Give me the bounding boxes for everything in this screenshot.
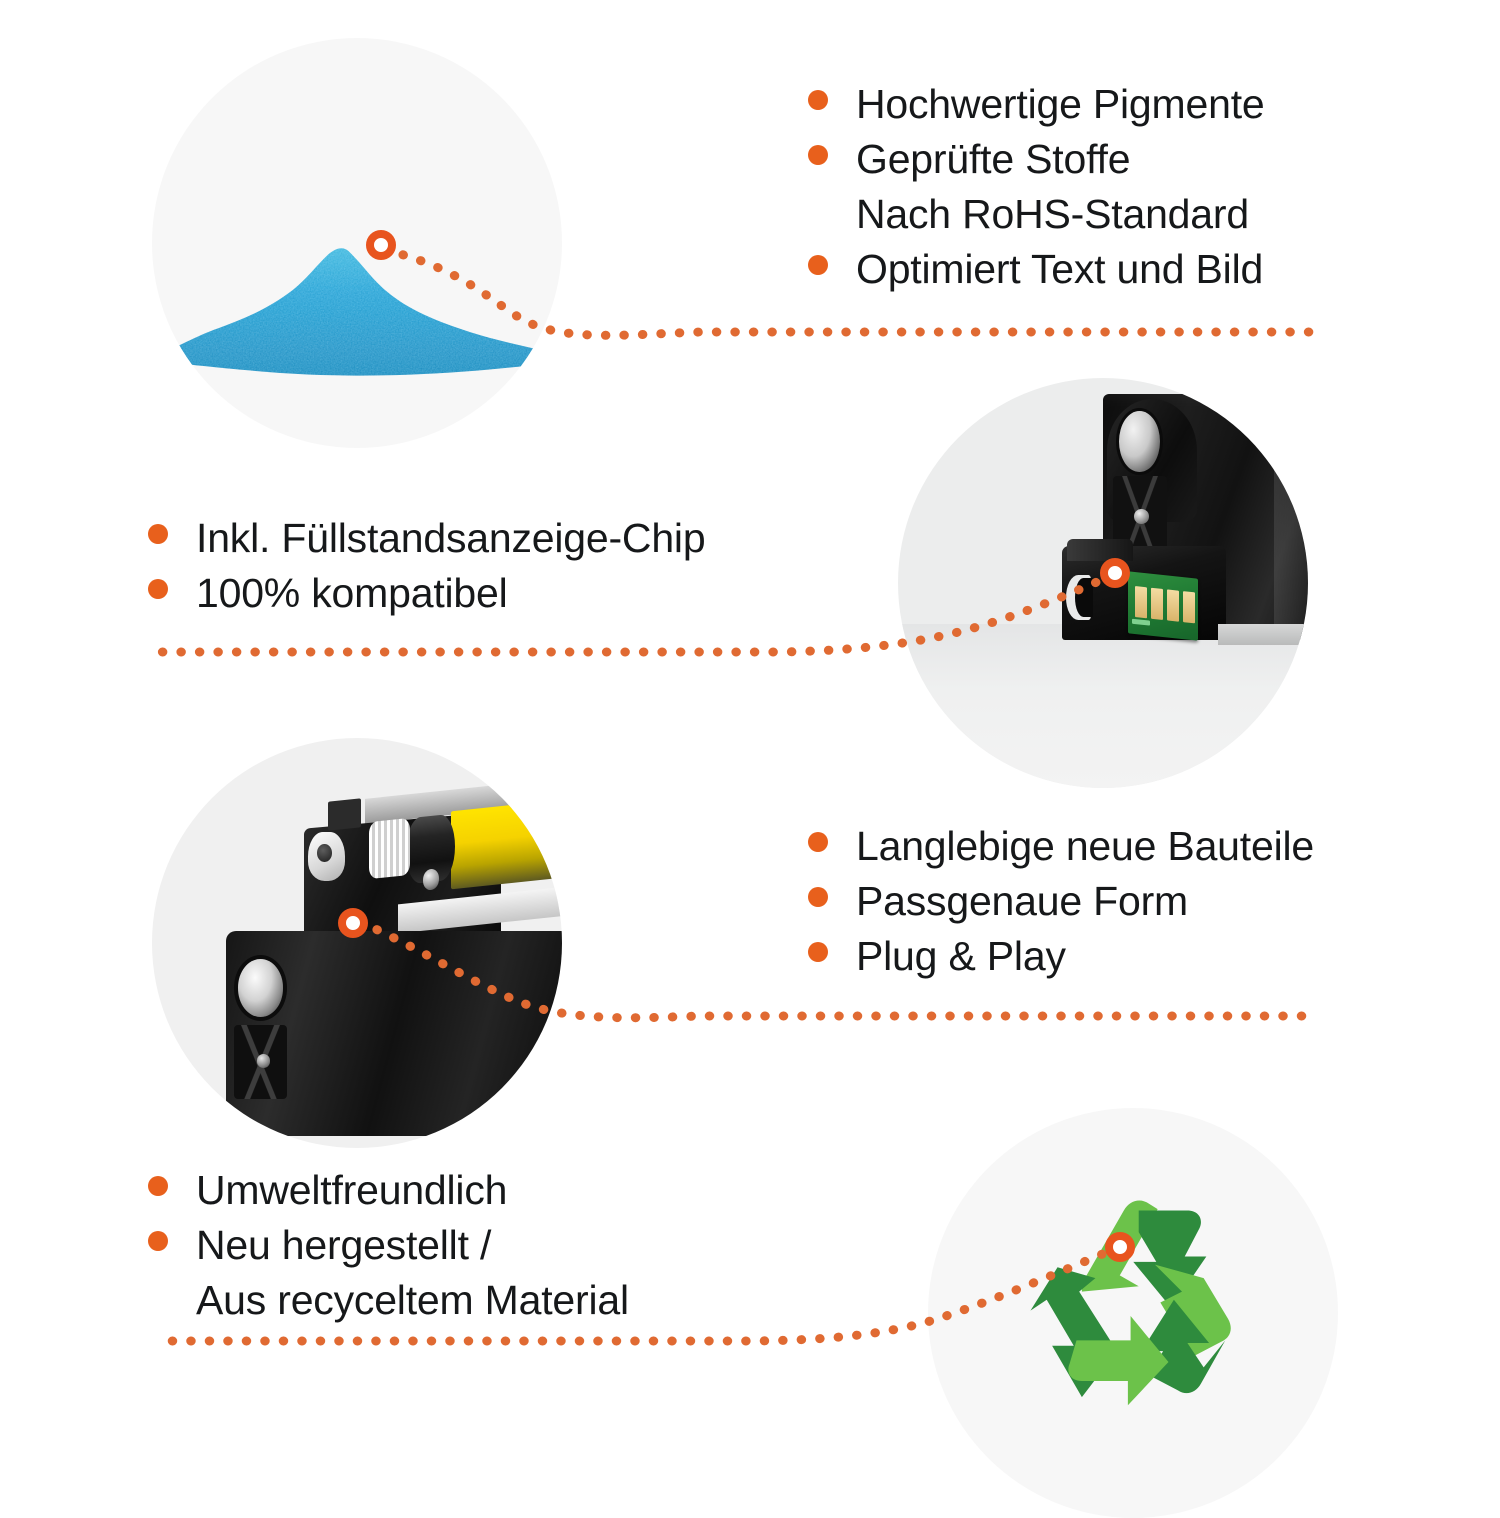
lower-axle-hole bbox=[238, 959, 283, 1016]
feature-label: Inkl. Füllstandsanzeige-Chip bbox=[196, 518, 705, 559]
chip-contact-pad bbox=[1151, 587, 1163, 620]
cyan-toner-pile bbox=[152, 231, 562, 383]
bullet-icon bbox=[148, 1176, 168, 1196]
drum-assembly-photo bbox=[152, 738, 562, 1148]
feature-item: Optimiert Text und Bild bbox=[808, 249, 1264, 290]
lower-screw bbox=[257, 1054, 271, 1068]
housing-screw bbox=[1134, 509, 1149, 524]
feature-label: Plug & Play bbox=[856, 936, 1066, 977]
level-sensor-chip-pcb bbox=[1128, 571, 1198, 640]
feature-item: Neu hergestellt / bbox=[148, 1225, 629, 1266]
drive-gear bbox=[369, 818, 410, 880]
feature-label: Passgenaue Form bbox=[856, 881, 1188, 922]
feature-item: Hochwertige Pigmente bbox=[808, 84, 1264, 125]
feature-item: 100% kompatibel bbox=[148, 573, 705, 614]
bullet-icon bbox=[808, 887, 828, 907]
white-end-gear bbox=[308, 832, 345, 881]
drum-assembly-circle bbox=[152, 738, 562, 1148]
bullet-spacer-icon bbox=[808, 200, 828, 220]
recycling-illustration bbox=[928, 1108, 1338, 1518]
cartridge-ledge bbox=[1218, 624, 1308, 645]
recycle-icon bbox=[998, 1178, 1269, 1449]
toner-powder-photo bbox=[152, 38, 562, 448]
feature-label: Aus recyceltem Material bbox=[196, 1280, 629, 1321]
feature-item: Inkl. Füllstandsanzeige-Chip bbox=[148, 518, 705, 559]
bullet-icon bbox=[808, 255, 828, 275]
feature-label: Optimiert Text und Bild bbox=[856, 249, 1263, 290]
feature-item: Aus recyceltem Material bbox=[148, 1280, 629, 1321]
feature-label: Umweltfreundlich bbox=[196, 1170, 507, 1211]
chip-trace bbox=[1132, 618, 1150, 625]
feature-label: Langlebige neue Bauteile bbox=[856, 826, 1314, 867]
bullet-icon bbox=[808, 90, 828, 110]
feature-block-parts: Langlebige neue Bauteile Passgenaue Form… bbox=[808, 826, 1314, 977]
bullet-icon bbox=[808, 145, 828, 165]
feature-label: Geprüfte Stoffe bbox=[856, 139, 1130, 180]
feature-item: Plug & Play bbox=[808, 936, 1314, 977]
chip-contact-pad bbox=[1167, 589, 1179, 622]
drum-frame-tab bbox=[328, 798, 361, 830]
yellow-drum-roller bbox=[451, 796, 562, 889]
feature-label: Neu hergestellt / bbox=[196, 1225, 491, 1266]
hotspot-marker-pigments bbox=[366, 230, 396, 260]
chip-mount-notch bbox=[1066, 575, 1091, 620]
feature-block-pigments: Hochwertige Pigmente Geprüfte Stoffe Nac… bbox=[808, 84, 1264, 290]
hotspot-marker-parts bbox=[338, 908, 368, 938]
chip-contact-pad bbox=[1183, 590, 1195, 623]
bullet-icon bbox=[148, 524, 168, 544]
bullet-icon bbox=[808, 942, 828, 962]
bullet-icon bbox=[808, 832, 828, 852]
hotspot-marker-chip bbox=[1100, 558, 1130, 588]
feature-item: Geprüfte Stoffe bbox=[808, 139, 1264, 180]
infographic-canvas: Hochwertige Pigmente Geprüfte Stoffe Nac… bbox=[0, 0, 1500, 1500]
bullet-icon bbox=[148, 1231, 168, 1251]
feature-label: Hochwertige Pigmente bbox=[856, 84, 1264, 125]
feature-item: Passgenaue Form bbox=[808, 881, 1314, 922]
studio-floor bbox=[898, 624, 1308, 788]
recycling-symbol-circle bbox=[928, 1108, 1338, 1518]
chip-contact-pad bbox=[1135, 585, 1147, 618]
feature-item: Langlebige neue Bauteile bbox=[808, 826, 1314, 867]
bullet-icon bbox=[148, 579, 168, 599]
feature-block-eco: Umweltfreundlich Neu hergestellt / Aus r… bbox=[148, 1170, 629, 1321]
toner-powder-circle bbox=[152, 38, 562, 448]
feature-block-chip: Inkl. Füllstandsanzeige-Chip 100% kompat… bbox=[148, 518, 705, 614]
feature-item: Nach RoHS-Standard bbox=[808, 194, 1264, 235]
feature-item: Umweltfreundlich bbox=[148, 1170, 629, 1211]
bullet-spacer-icon bbox=[148, 1286, 168, 1306]
hotspot-marker-eco bbox=[1105, 1232, 1135, 1262]
feature-label: Nach RoHS-Standard bbox=[856, 194, 1249, 235]
feature-label: 100% kompatibel bbox=[196, 573, 508, 614]
